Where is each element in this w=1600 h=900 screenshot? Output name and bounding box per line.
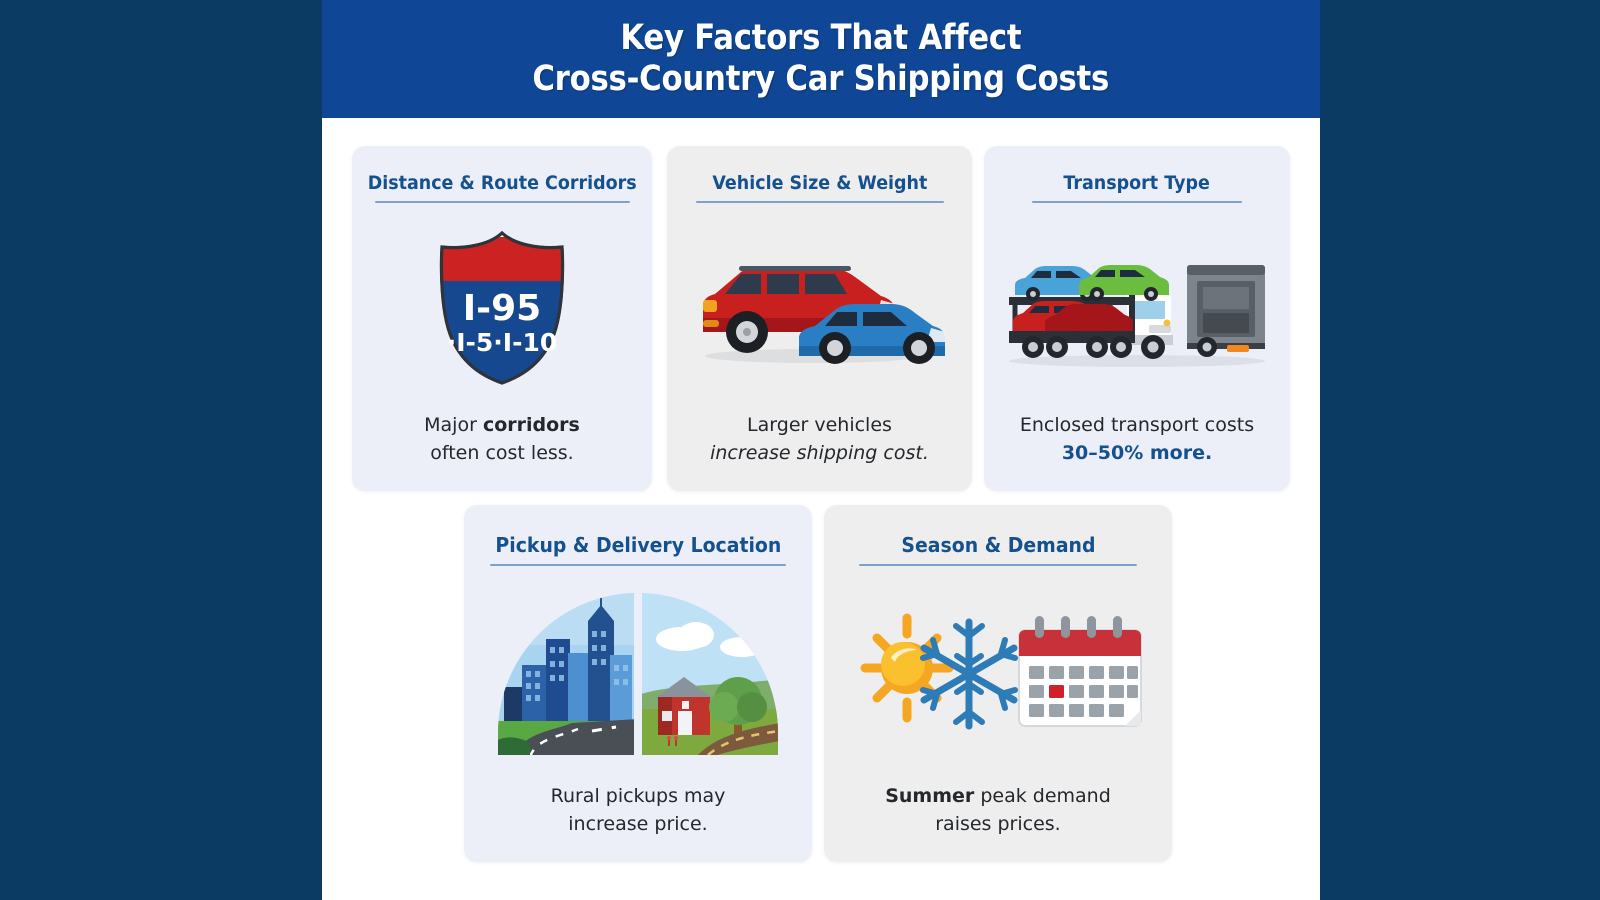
page-title-line1: Key Factors That Affect [620,18,1021,59]
city-rural-split-icon [496,591,780,757]
card-pickup-delivery-location[interactable]: Pickup & Delivery Location [464,505,812,862]
infographic-page: Key Factors That Affect Cross-Country Ca… [0,0,1600,900]
car-carrier-truck-icon [1001,243,1273,371]
card-distance-route-corridors[interactable]: Distance & Route Corridors [352,146,652,491]
card-illustration [464,566,812,782]
card-heading: Vehicle Size & Weight [712,172,927,194]
card-body-line1: Rural pickups may [551,782,726,810]
heading-divider [490,564,786,566]
body-text-plain: Major [424,414,483,436]
card-body: Larger vehicles increase shipping cost. [696,411,943,491]
card-body-line2: 30–50% more. [1020,439,1254,467]
heading-divider [696,201,944,203]
page-title-line2: Cross-Country Car Shipping Costs [533,59,1110,100]
card-body-line1: Larger vehicles [710,411,929,439]
card-body-line2: increase shipping cost. [710,439,929,467]
body-text-emphasis: corridors [483,414,580,436]
shield-primary-label: I-95 [463,288,541,329]
card-body-line1: Enclosed transport costs [1020,411,1254,439]
card-body: Major corridors often cost less. [410,411,594,491]
factor-card-grid: Distance & Route Corridors [322,118,1320,900]
card-body: Rural pickups may increase price. [537,782,740,862]
card-illustration [667,203,972,411]
card-body-line2: often cost less. [424,439,580,467]
page-header: Key Factors That Affect Cross-Country Ca… [322,0,1320,118]
content-panel: Key Factors That Affect Cross-Country Ca… [322,0,1320,900]
card-body: Summer peak demand raises prices. [871,782,1125,862]
heading-divider [1032,201,1242,203]
card-transport-type[interactable]: Transport Type [984,146,1290,491]
body-text-emphasis: Summer [885,785,974,807]
card-heading: Pickup & Delivery Location [495,533,781,557]
heading-divider [859,564,1137,566]
card-body-line1: Major corridors [424,411,580,439]
sun-snowflake-calendar-icon [853,604,1143,744]
card-season-demand[interactable]: Season & Demand [824,505,1172,862]
card-illustration: I-95 ·I-5·I-10 [352,203,652,411]
card-illustration [824,566,1172,782]
calendar-icon [1019,616,1141,726]
calendar-highlight-day [1049,685,1064,698]
card-heading: Transport Type [1064,172,1210,194]
heading-divider [375,201,630,203]
card-body-line2: raises prices. [885,810,1111,838]
card-heading: Distance & Route Corridors [368,172,637,194]
card-body-line1: Summer peak demand [885,782,1111,810]
card-heading: Season & Demand [901,533,1095,557]
interstate-shield-icon: I-95 ·I-5·I-10 [418,223,586,391]
suv-and-sedan-icon [695,244,945,369]
card-body-line2: increase price. [551,810,726,838]
card-illustration [984,203,1290,411]
shield-secondary-label: ·I-5·I-10 [447,328,558,357]
body-text-plain: peak demand [974,785,1110,807]
card-vehicle-size-weight[interactable]: Vehicle Size & Weight [667,146,972,491]
card-body: Enclosed transport costs 30–50% more. [1006,411,1268,491]
